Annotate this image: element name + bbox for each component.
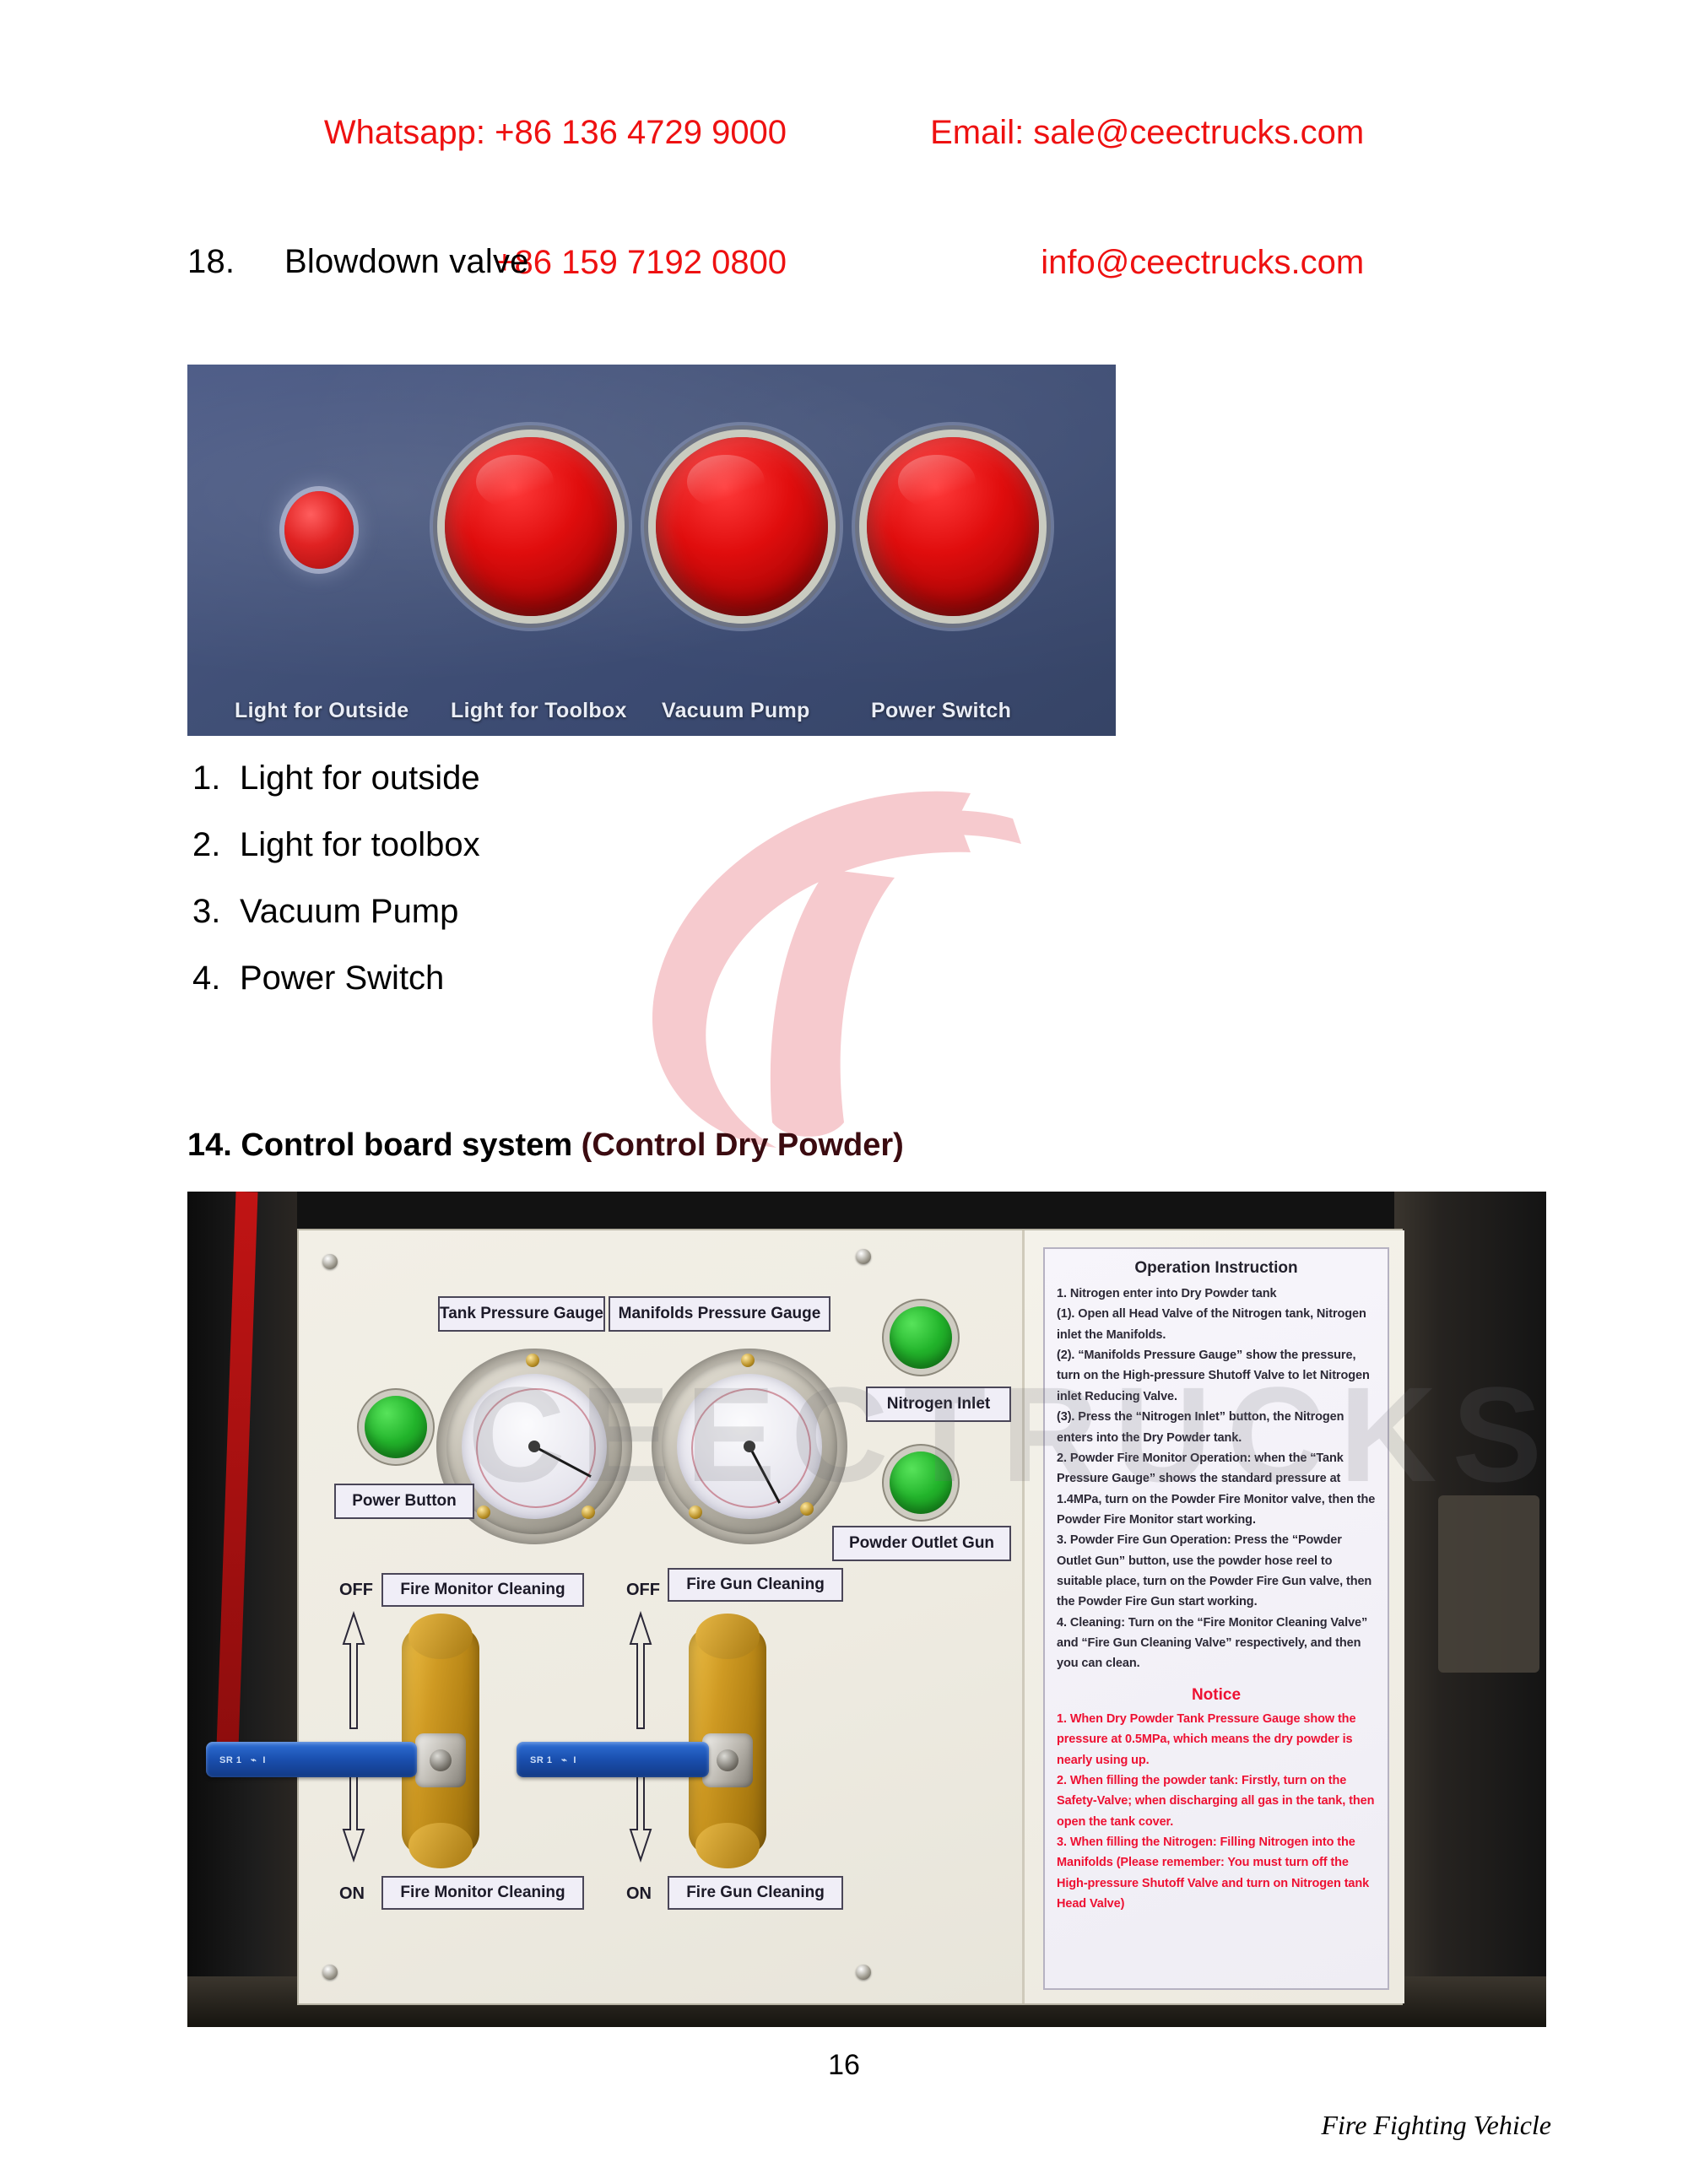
company-watermark [574,768,1047,1173]
label-power-button: Power Button [334,1484,474,1519]
gauge-face [462,1374,607,1519]
manifolds-pressure-gauge [652,1349,847,1544]
control-board-left-section: Tank Pressure Gauge Manifolds Pressure G… [299,1230,1020,2003]
list-item: 2. Light for toolbox [192,826,480,893]
control-board-panel: CEECTRUCKS Tank Pressure Gauge Manifolds… [297,1229,1403,2005]
gauge-needle [533,1446,592,1478]
gauge-screw-icon [526,1354,539,1367]
section-14-heading: 14. Control board system (Control Dry Po… [187,1127,904,1164]
notice-line: 1. When Dry Powder Tank Pressure Gauge s… [1057,1709,1376,1770]
section-18-number: 18. [187,243,284,281]
label-tank-pressure-gauge: Tank Pressure Gauge [438,1296,605,1332]
control-board-right-section: Operation Instruction 1. Nitrogen enter … [1022,1230,1404,2003]
gauge-hub [528,1441,540,1452]
whatsapp-line-1: Whatsapp: +86 136 4729 9000 [324,111,787,154]
photo-background-right [1394,1192,1546,2027]
gauge-screw-icon [689,1506,702,1519]
red-button-light-for-toolbox [445,437,617,616]
up-down-arrow-icon-left [341,1610,366,1863]
label-fire-monitor-cleaning-off: Fire Monitor Cleaning [381,1573,584,1607]
label-on-right: ON [626,1884,652,1904]
switch-panel-label-1: Light for Toolbox [451,699,627,723]
power-button[interactable] [365,1396,427,1458]
email-line-1: Email: sale@ceectrucks.com [930,111,1364,154]
email-block: Email: sale@ceectrucks.com info@ceectruc… [930,25,1364,371]
document-page: Whatsapp: +86 136 4729 9000 +86 159 7192… [0,0,1688,2184]
fire-monitor-valve-hub[interactable] [415,1733,466,1787]
list-item-label: Power Switch [240,960,444,997]
notice-line: 3. When filling the Nitrogen: Filling Ni… [1057,1832,1376,1914]
valve-handle-marking: SR 1 ⌁ I [530,1754,576,1765]
gauge-needle [749,1446,781,1504]
label-nitrogen-inlet: Nitrogen Inlet [866,1387,1011,1422]
list-item-number: 2. [192,826,240,864]
list-item-number: 4. [192,960,240,997]
notice-line: 2. When filling the powder tank: Firstly… [1057,1770,1376,1832]
instruction-line: (2). “Manifolds Pressure Gauge” show the… [1057,1345,1376,1407]
instruction-line: 1. Nitrogen enter into Dry Powder tank [1057,1284,1376,1304]
list-item: 3. Vacuum Pump [192,893,480,960]
section-14-title-black: 14. Control board system [187,1127,582,1163]
operation-instruction-plate: Operation Instruction 1. Nitrogen enter … [1043,1247,1389,1990]
label-off-left: OFF [339,1581,373,1600]
section-14-title-red: (Control Dry Powder) [582,1127,904,1163]
control-board-photo: CEECTRUCKS Tank Pressure Gauge Manifolds… [187,1192,1546,2027]
label-fire-gun-cleaning-off: Fire Gun Cleaning [668,1568,843,1602]
indicator-lamp-icon [284,491,354,569]
instruction-title: Operation Instruction [1057,1259,1376,1278]
label-fire-gun-cleaning-on: Fire Gun Cleaning [668,1876,843,1910]
label-fire-monitor-cleaning-on: Fire Monitor Cleaning [381,1876,584,1910]
switch-panel-photo: Light for Outside Light for Toolbox Vacu… [187,365,1116,736]
section-18-title: Blowdown valve [284,243,529,280]
fire-monitor-valve-handle[interactable]: SR 1 ⌁ I [206,1742,417,1777]
switch-function-list: 1. Light for outside 2. Light for toolbo… [192,760,480,1026]
footer-document-title: Fire Fighting Vehicle [1321,2110,1551,2141]
email-line-2: info@ceectrucks.com [930,241,1364,284]
instruction-line: 3. Powder Fire Gun Operation: Press the … [1057,1530,1376,1612]
list-item-number: 1. [192,760,240,797]
valve-handle-marking: SR 1 ⌁ I [219,1754,266,1765]
instruction-line: 4. Cleaning: Turn on the “Fire Monitor C… [1057,1613,1376,1674]
gauge-face [677,1374,822,1519]
gauge-screw-icon [477,1506,490,1519]
switch-panel-label-3: Power Switch [871,699,1011,723]
label-manifolds-pressure-gauge: Manifolds Pressure Gauge [609,1296,830,1332]
list-item-number: 3. [192,893,240,931]
red-button-vacuum-pump [656,437,828,616]
instruction-line: (1). Open all Head Valve of the Nitrogen… [1057,1304,1376,1345]
whatsapp-block: Whatsapp: +86 136 4729 9000 +86 159 7192… [324,25,787,371]
up-down-arrow-icon-right [628,1610,653,1863]
notice-title: Notice [1057,1686,1376,1705]
powder-outlet-gun-button[interactable] [890,1451,952,1514]
section-18-heading: 18.Blowdown valve [187,243,529,281]
fire-gun-valve-handle[interactable]: SR 1 ⌁ I [517,1742,709,1777]
instruction-line: 2. Powder Fire Monitor Operation: when t… [1057,1448,1376,1530]
list-item-label: Vacuum Pump [240,893,458,931]
label-off-right: OFF [626,1581,660,1600]
list-item: 4. Power Switch [192,960,480,1026]
gauge-screw-icon [741,1354,755,1367]
list-item-label: Light for outside [240,760,480,797]
gauge-screw-icon [800,1502,814,1516]
list-item-label: Light for toolbox [240,826,480,864]
switch-panel-label-2: Vacuum Pump [662,699,810,723]
gauge-hub [744,1441,755,1452]
contact-header: Whatsapp: +86 136 4729 9000 +86 159 7192… [0,25,1688,371]
page-number: 16 [0,2049,1688,2082]
instruction-line: (3). Press the “Nitrogen Inlet” button, … [1057,1407,1376,1448]
red-button-power-switch [867,437,1039,616]
switch-panel-label-0: Light for Outside [235,699,408,723]
label-on-left: ON [339,1884,365,1904]
fire-gun-valve-hub[interactable] [702,1733,753,1787]
nitrogen-inlet-button[interactable] [890,1306,952,1369]
label-powder-outlet-gun: Powder Outlet Gun [832,1526,1011,1561]
gauge-screw-icon [582,1506,595,1519]
list-item: 1. Light for outside [192,760,480,826]
